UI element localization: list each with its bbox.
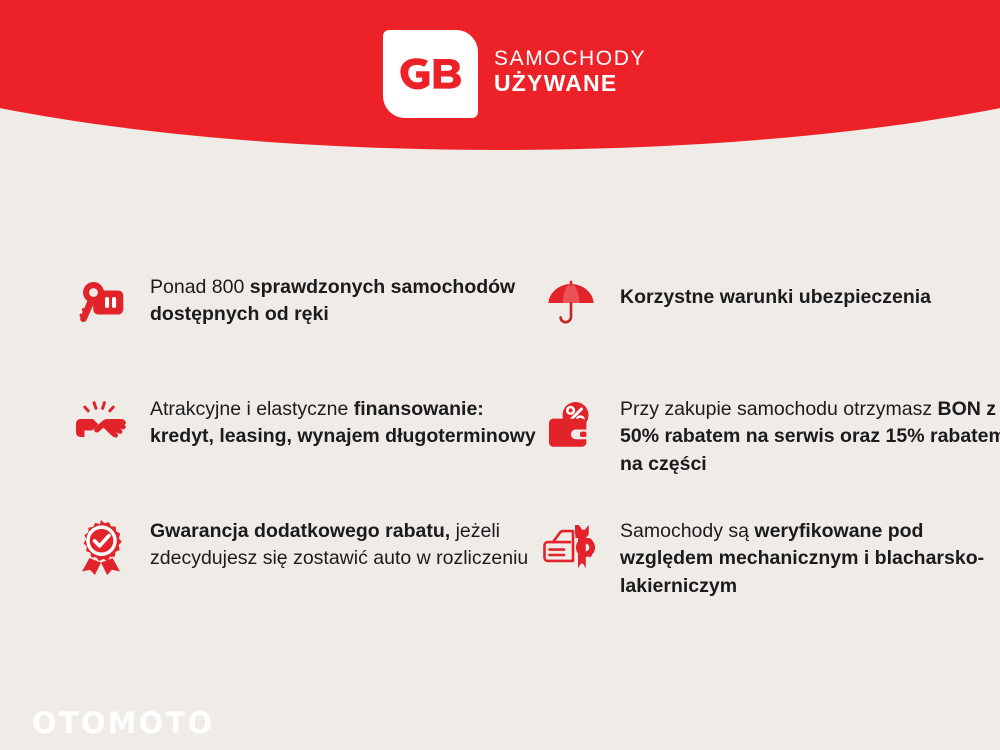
feature-item-trade-in-guarantee: Gwarancja dodatkowego rabatu, jeżeli zde… (70, 516, 540, 638)
feature-bold-text: Gwarancja dodatkowego rabatu, (150, 520, 450, 542)
feature-text-verified-cars: Samochody są weryfikowane pod względem m… (620, 516, 1000, 600)
feature-text-discount-voucher: Przy zakupie samochodu otrzymasz BON z 5… (620, 394, 1000, 478)
umbrella-icon (540, 274, 602, 332)
feature-item-cars-available: Ponad 800 sprawdzonych samochodów dostęp… (70, 272, 540, 394)
car-wrench-icon (540, 518, 602, 576)
brand-line-2: UŻYWANE (494, 71, 646, 97)
feature-text-trade-in-guarantee: Gwarancja dodatkowego rabatu, jeżeli zde… (150, 516, 540, 573)
feature-text-cars-available: Ponad 800 sprawdzonych samochodów dostęp… (150, 272, 540, 329)
brand-line-1: SAMOCHODY (494, 47, 646, 71)
feature-lead-text: Przy zakupie samochodu otrzymasz (620, 398, 938, 420)
feature-text-financing: Atrakcyjne i elastyczne finansowanie: kr… (150, 394, 540, 451)
brand-wordmark: SAMOCHODY UŻYWANE (494, 47, 646, 100)
handshake-icon (70, 396, 132, 454)
feature-list: Ponad 800 sprawdzonych samochodów dostęp… (0, 272, 1000, 638)
brand-logo: SAMOCHODY UŻYWANE (383, 30, 646, 118)
logo-tile (383, 30, 478, 118)
feature-lead-text: Ponad 800 (150, 276, 250, 298)
feature-lead-text: Atrakcyjne i elastyczne (150, 398, 354, 420)
rosette-check-icon (70, 518, 132, 576)
feature-lead-text: Samochody są (620, 520, 754, 542)
keys-icon (70, 274, 132, 332)
gb-monogram-icon (399, 57, 463, 91)
promo-banner: SAMOCHODY UŻYWANE (0, 0, 1000, 750)
feature-text-insurance: Korzystne warunki ubezpieczenia (620, 272, 1000, 311)
otomoto-watermark: OTOMOTO (32, 706, 214, 740)
feature-bold-text: Korzystne warunki ubezpieczenia (620, 286, 931, 308)
wallet-percent-icon (540, 396, 602, 454)
feature-item-insurance: Korzystne warunki ubezpieczenia (540, 272, 1000, 394)
feature-item-discount-voucher: Przy zakupie samochodu otrzymasz BON z 5… (540, 394, 1000, 516)
feature-item-financing: Atrakcyjne i elastyczne finansowanie: kr… (70, 394, 540, 516)
header-content: SAMOCHODY UŻYWANE (0, 0, 1000, 170)
feature-item-verified-cars: Samochody są weryfikowane pod względem m… (540, 516, 1000, 638)
